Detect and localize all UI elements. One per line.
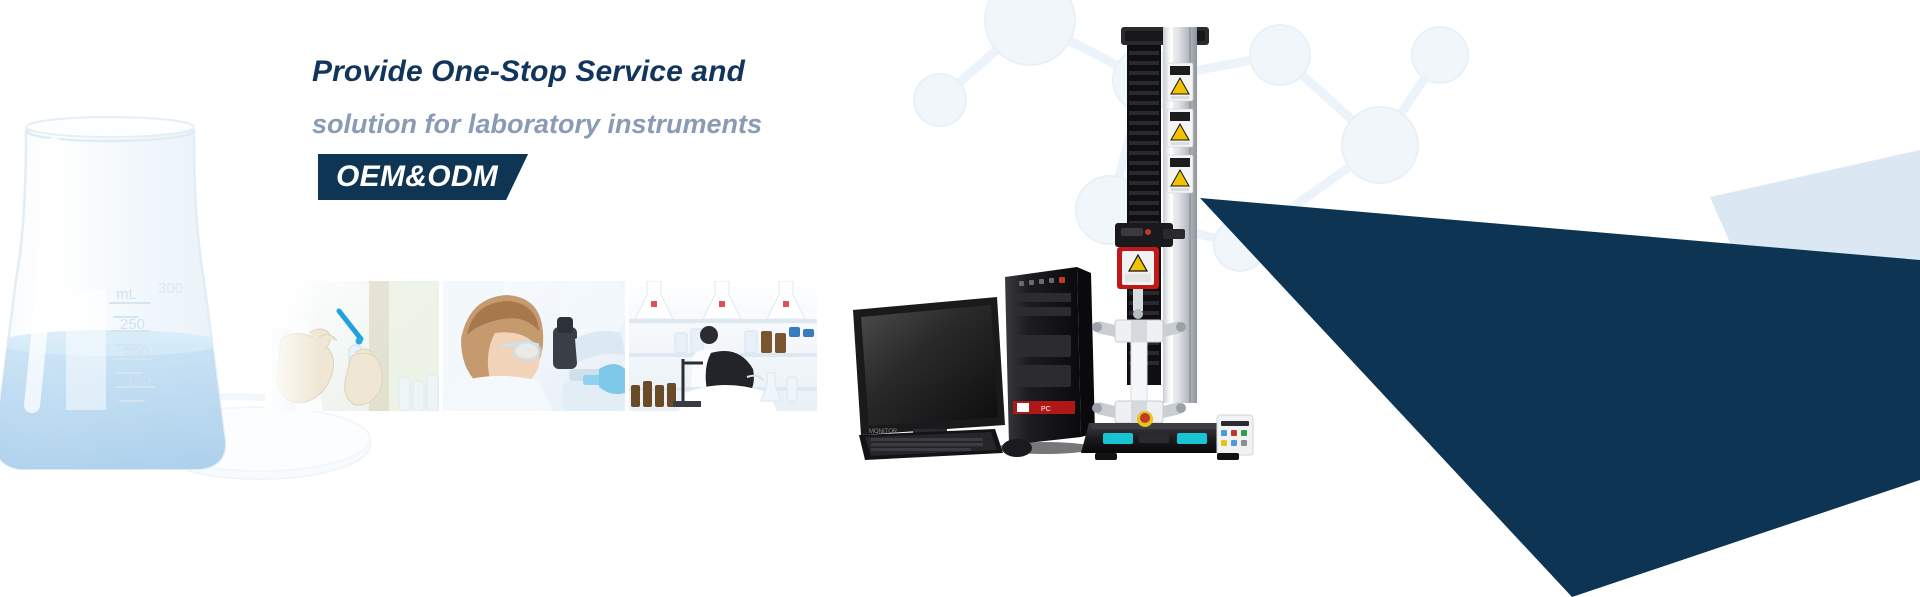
- flask-graduation-200: 200: [124, 344, 149, 361]
- flask-graduation-250: 250: [120, 316, 145, 333]
- light-arrow-triangle: [1710, 150, 1920, 380]
- computer-mouse: [1002, 439, 1032, 457]
- hero-banner: mL 300 250 200 150 Provide One-Stop Serv…: [0, 0, 1920, 597]
- banner-alt-text: Provide One-Stop Service and solution fo…: [0, 0, 1, 1]
- computer-tower: PC: [997, 267, 1095, 454]
- headline-line-1: Provide One-Stop Service and: [312, 52, 762, 92]
- laboratory-photo: [629, 281, 817, 411]
- oem-odm-badge: OEM&ODM: [318, 154, 528, 200]
- flask-graduation-150: 150: [126, 372, 151, 389]
- svg-text:PC: PC: [1041, 406, 1051, 413]
- load-cell: [1117, 247, 1159, 289]
- flask-graduation-300: 300: [158, 280, 183, 297]
- equipment-group: MONITOR PC: [845, 5, 1315, 460]
- machine-base: [1081, 411, 1253, 460]
- photo-strip: [265, 281, 821, 411]
- warning-label-group: [1167, 63, 1193, 193]
- headline-block: Provide One-Stop Service and solution fo…: [312, 52, 762, 200]
- flask-unit-label: mL: [116, 286, 137, 303]
- headline-line-2: solution for laboratory instruments: [312, 106, 762, 142]
- universal-tensile-testing-machine: [1081, 27, 1253, 460]
- microscope-photo: [443, 281, 625, 411]
- oem-odm-badge-label: OEM&ODM: [336, 160, 498, 194]
- pipetting-photo: [265, 281, 439, 411]
